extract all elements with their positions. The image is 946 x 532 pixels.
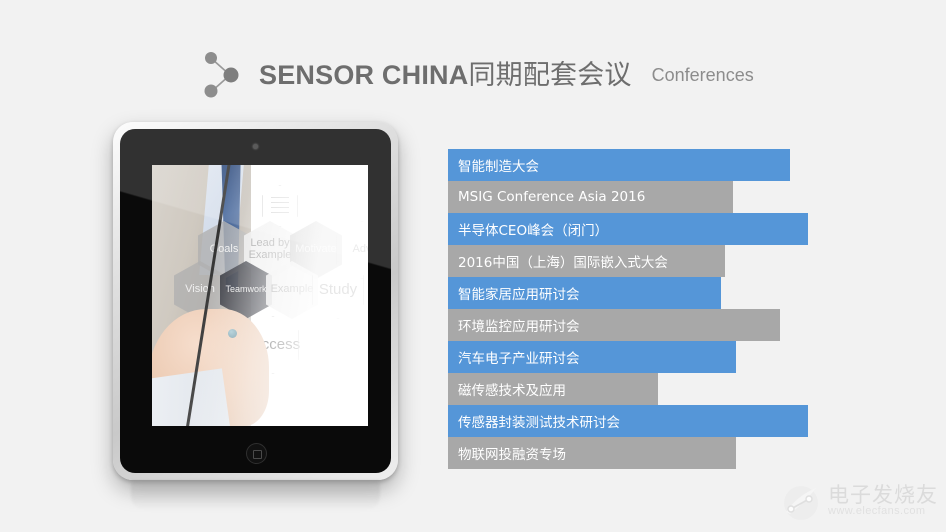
conference-bar[interactable]: 汽车电子产业研讨会 <box>448 341 736 373</box>
tablet-reflection <box>131 480 380 510</box>
conference-bar-chart: 智能制造大会MSIG Conference Asia 2016半导体CEO峰会（… <box>448 149 828 469</box>
conference-bar-label: 环境监控应用研讨会 <box>458 315 580 335</box>
home-button[interactable] <box>246 443 267 464</box>
conference-bar-label: 磁传感技术及应用 <box>458 379 566 399</box>
network-nodes-icon <box>193 46 251 104</box>
camera-icon <box>253 144 258 149</box>
elecfans-logo-icon <box>778 478 824 524</box>
slide-canvas: SENSOR CHINA同期配套会议 Conferences <box>0 0 946 532</box>
tablet-body: Goals Lead by Example Motivate Adv Visio… <box>113 122 398 480</box>
page-title: SENSOR CHINA同期配套会议 <box>259 62 632 89</box>
conference-bar-label: 半导体CEO峰会（闭门） <box>458 219 608 239</box>
conference-bar[interactable]: 磁传感技术及应用 <box>448 373 658 405</box>
conference-bar-label: MSIG Conference Asia 2016 <box>458 189 645 205</box>
conference-bar[interactable]: 2016中国（上海）国际嵌入式大会 <box>448 245 725 277</box>
title-chinese: 同期配套会议 <box>468 60 631 91</box>
conference-bar-label: 汽车电子产业研讨会 <box>458 347 580 367</box>
conference-bar-label: 2016中国（上海）国际嵌入式大会 <box>458 251 668 271</box>
conference-bar[interactable]: 智能家居应用研讨会 <box>448 277 721 309</box>
conference-bar[interactable]: 传感器封装测试技术研讨会 <box>448 405 808 437</box>
screen-photo: Goals Lead by Example Motivate Adv Visio… <box>152 165 368 426</box>
watermark-brand: 电子发烧友 <box>828 484 938 506</box>
conference-bar-label: 智能家居应用研讨会 <box>458 283 580 303</box>
slide-header: SENSOR CHINA同期配套会议 Conferences <box>193 44 754 106</box>
watermark-text: 电子发烧友 www.elecfans.com <box>828 484 938 518</box>
conference-bar[interactable]: 半导体CEO峰会（闭门） <box>448 213 808 245</box>
page-subtitle: Conferences <box>652 66 754 84</box>
photo-stylus-tip <box>228 329 237 338</box>
tablet-device: Goals Lead by Example Motivate Adv Visio… <box>113 122 398 480</box>
conference-bar[interactable]: 智能制造大会 <box>448 149 790 181</box>
title-english: SENSOR CHINA <box>259 60 468 90</box>
conference-bar[interactable]: 环境监控应用研讨会 <box>448 309 780 341</box>
watermark-url: www.elecfans.com <box>828 506 938 518</box>
conference-bar[interactable]: MSIG Conference Asia 2016 <box>448 181 733 213</box>
hexagon-study: Study <box>312 261 364 319</box>
conference-bar-label: 传感器封装测试技术研讨会 <box>458 411 620 431</box>
conference-bar[interactable]: 物联网投融资专场 <box>448 437 736 469</box>
tablet-bezel: Goals Lead by Example Motivate Adv Visio… <box>120 129 391 473</box>
watermark: 电子发烧友 www.elecfans.com <box>778 478 938 524</box>
conference-bar-label: 物联网投融资专场 <box>458 443 566 463</box>
conference-bar-label: 智能制造大会 <box>458 155 539 175</box>
tablet-screen: Goals Lead by Example Motivate Adv Visio… <box>152 165 368 426</box>
